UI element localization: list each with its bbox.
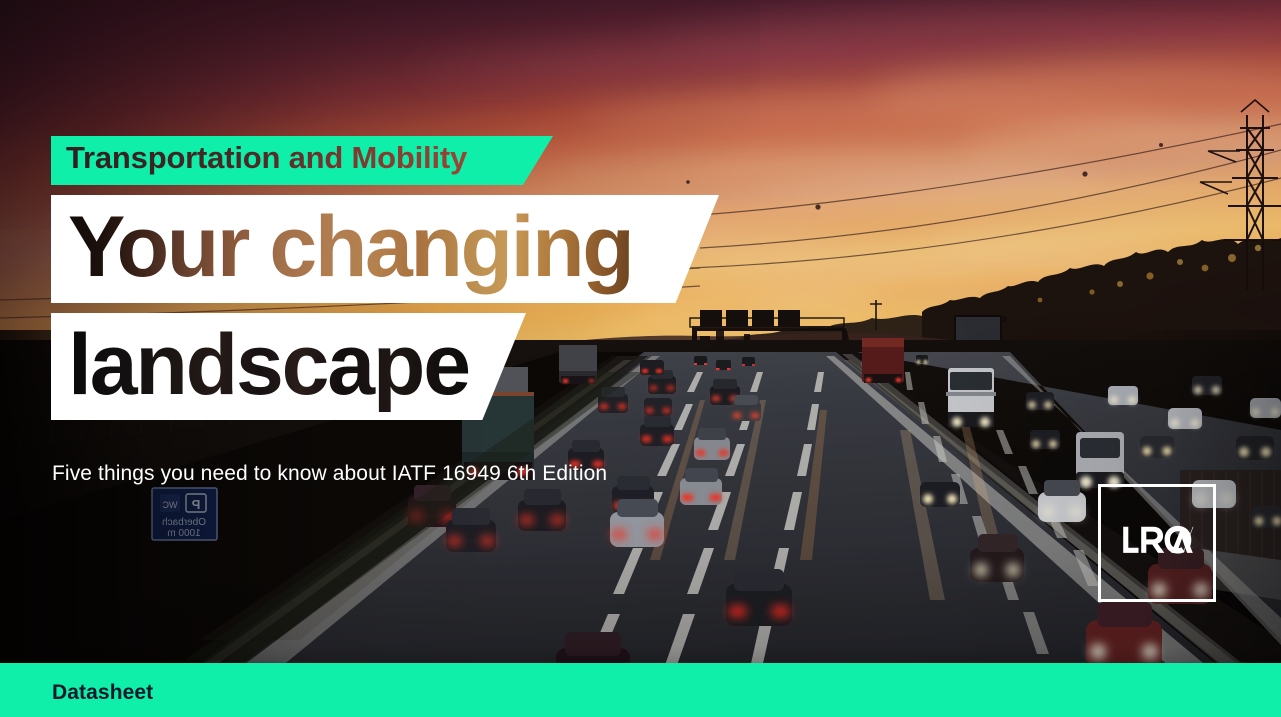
slide-canvas: WC P Oberbach 1000 m (0, 0, 1281, 717)
subtitle: Five things you need to know about IATF … (52, 462, 607, 486)
title-line-2: landscape (68, 316, 469, 415)
title-line-1: Your changing (68, 198, 632, 297)
footer-bar (0, 663, 1281, 717)
eyebrow-text: Transportation and Mobility (66, 140, 467, 176)
footer-label: Datasheet (52, 681, 153, 705)
lrqa-logo-icon (1122, 525, 1194, 555)
